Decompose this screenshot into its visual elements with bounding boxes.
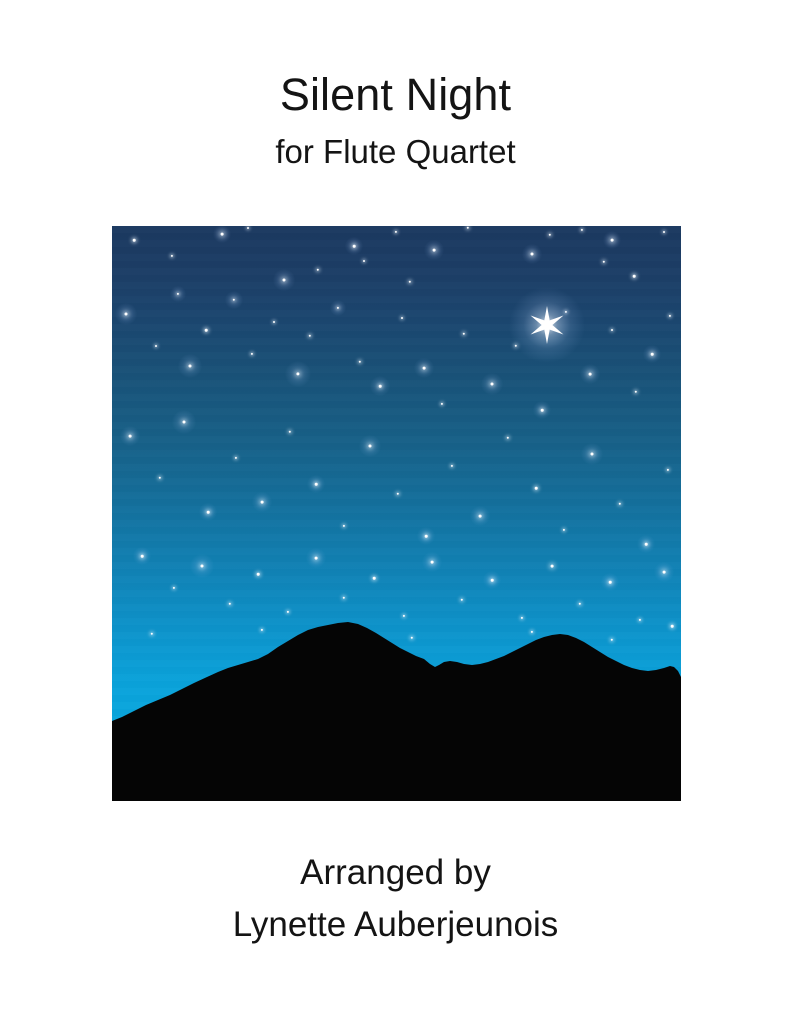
cover-page: Silent Night for Flute Quartet Arranged …	[0, 0, 791, 1024]
page-title: Silent Night	[0, 72, 791, 117]
cover-artwork	[112, 226, 681, 801]
credits-block: Arranged by Lynette Auberjeunois	[0, 855, 791, 942]
page-subtitle: for Flute Quartet	[0, 135, 791, 168]
arranger-name: Lynette Auberjeunois	[0, 907, 791, 942]
title-block: Silent Night for Flute Quartet	[0, 72, 791, 168]
arranged-by-label: Arranged by	[0, 855, 791, 890]
mountain-silhouette	[112, 571, 681, 801]
